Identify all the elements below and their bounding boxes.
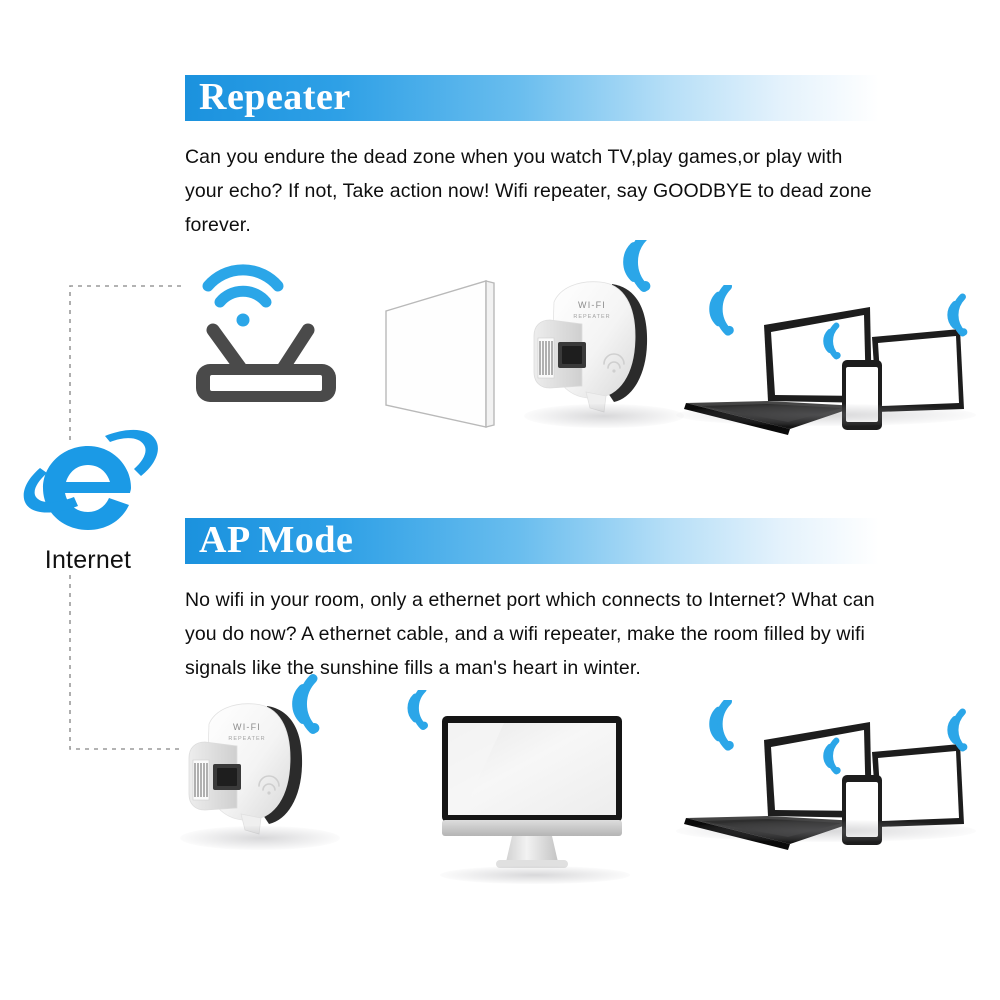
internet-node: Internet xyxy=(8,420,168,575)
tablet xyxy=(872,329,964,412)
device-brand-label: WI-FI xyxy=(578,300,606,310)
connector-line-top xyxy=(70,286,181,440)
section-body-repeater: Can you endure the dead zone when you wa… xyxy=(185,140,885,242)
device-model-label: REPEATER xyxy=(573,314,610,320)
infographic-page: Internet Repeater Can you endure the dea… xyxy=(0,0,1000,1000)
connector-line-bottom xyxy=(70,575,181,749)
device-brand-label: WI-FI xyxy=(233,722,261,732)
wifi-icon xyxy=(208,270,278,327)
device-shadow xyxy=(676,820,976,842)
tablet xyxy=(872,744,964,827)
section-title-repeater: Repeater xyxy=(199,78,351,116)
section-title-ap-mode: AP Mode xyxy=(199,521,353,559)
device-shadow xyxy=(180,826,340,850)
internet-label: Internet xyxy=(8,546,168,575)
wall-barrier xyxy=(378,275,538,440)
device-shadow xyxy=(440,866,630,884)
desktop-monitor xyxy=(400,690,665,875)
device-shadow xyxy=(524,404,684,428)
wifi-router xyxy=(186,246,356,406)
wifi-icon xyxy=(704,286,754,336)
internet-explorer-logo-icon xyxy=(18,420,158,550)
device-shadow xyxy=(676,404,976,426)
device-model-label: REPEATER xyxy=(228,736,265,742)
wifi-icon xyxy=(403,690,444,731)
wifi-repeater-device: WI-FI REPEATER xyxy=(175,662,365,852)
section-header-ap-mode: AP Mode xyxy=(185,518,879,564)
wifi-icon xyxy=(704,701,754,751)
section-header-repeater: Repeater xyxy=(185,75,879,121)
